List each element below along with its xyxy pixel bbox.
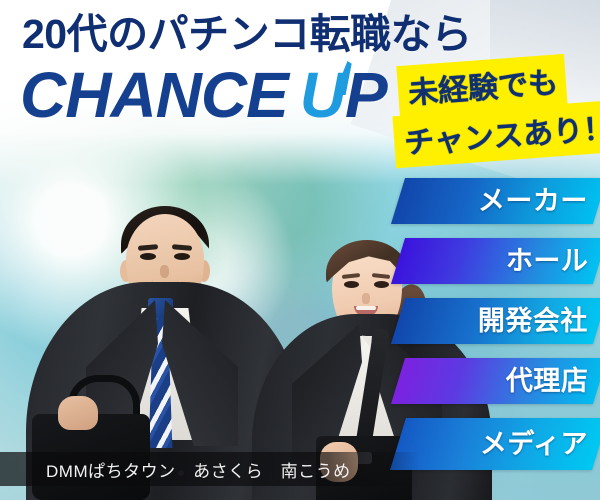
chance-up-logotype: CHANCEUP: [20, 63, 387, 127]
headline-text: 20代のパチンコ転職なら: [22, 14, 472, 55]
category-label-hall: ホール: [506, 248, 600, 275]
male-hand: [58, 396, 98, 430]
category-item-development[interactable]: 開発会社: [391, 298, 600, 344]
female-eye-left: [344, 281, 359, 288]
logo-p-text: P: [345, 59, 387, 131]
category-label-development: 開発会社: [478, 308, 600, 335]
male-eye-left: [140, 253, 156, 260]
logo-chance-text: CHANCE: [20, 59, 288, 131]
credit-text: DMMぱちタウン あさくら 南こうめ: [0, 457, 351, 482]
female-nose: [362, 293, 370, 304]
female-teeth: [356, 306, 376, 310]
female-eye-right: [374, 281, 389, 288]
category-item-maker[interactable]: メーカー: [391, 178, 600, 224]
male-eye-right: [174, 253, 190, 260]
category-list: メーカー ホール 開発会社 代理店 メディア: [398, 178, 600, 484]
male-nose: [160, 265, 169, 278]
recruitment-banner: 20代のパチンコ転職なら CHANCEUP 未経験でも チャンスあり！ メーカー…: [0, 0, 600, 500]
experience-badge: 未経験でも チャンスあり！: [398, 52, 598, 164]
category-item-media[interactable]: メディア: [390, 418, 600, 470]
credit-bar: DMMぱちタウン あさくら 南こうめ: [0, 452, 420, 486]
logo-u-accent: U: [300, 59, 345, 131]
category-label-media: メディア: [480, 431, 600, 458]
category-label-maker: メーカー: [478, 188, 600, 215]
category-item-agency[interactable]: 代理店: [391, 358, 600, 404]
category-item-hall[interactable]: ホール: [391, 238, 600, 284]
category-label-agency: 代理店: [506, 368, 600, 395]
